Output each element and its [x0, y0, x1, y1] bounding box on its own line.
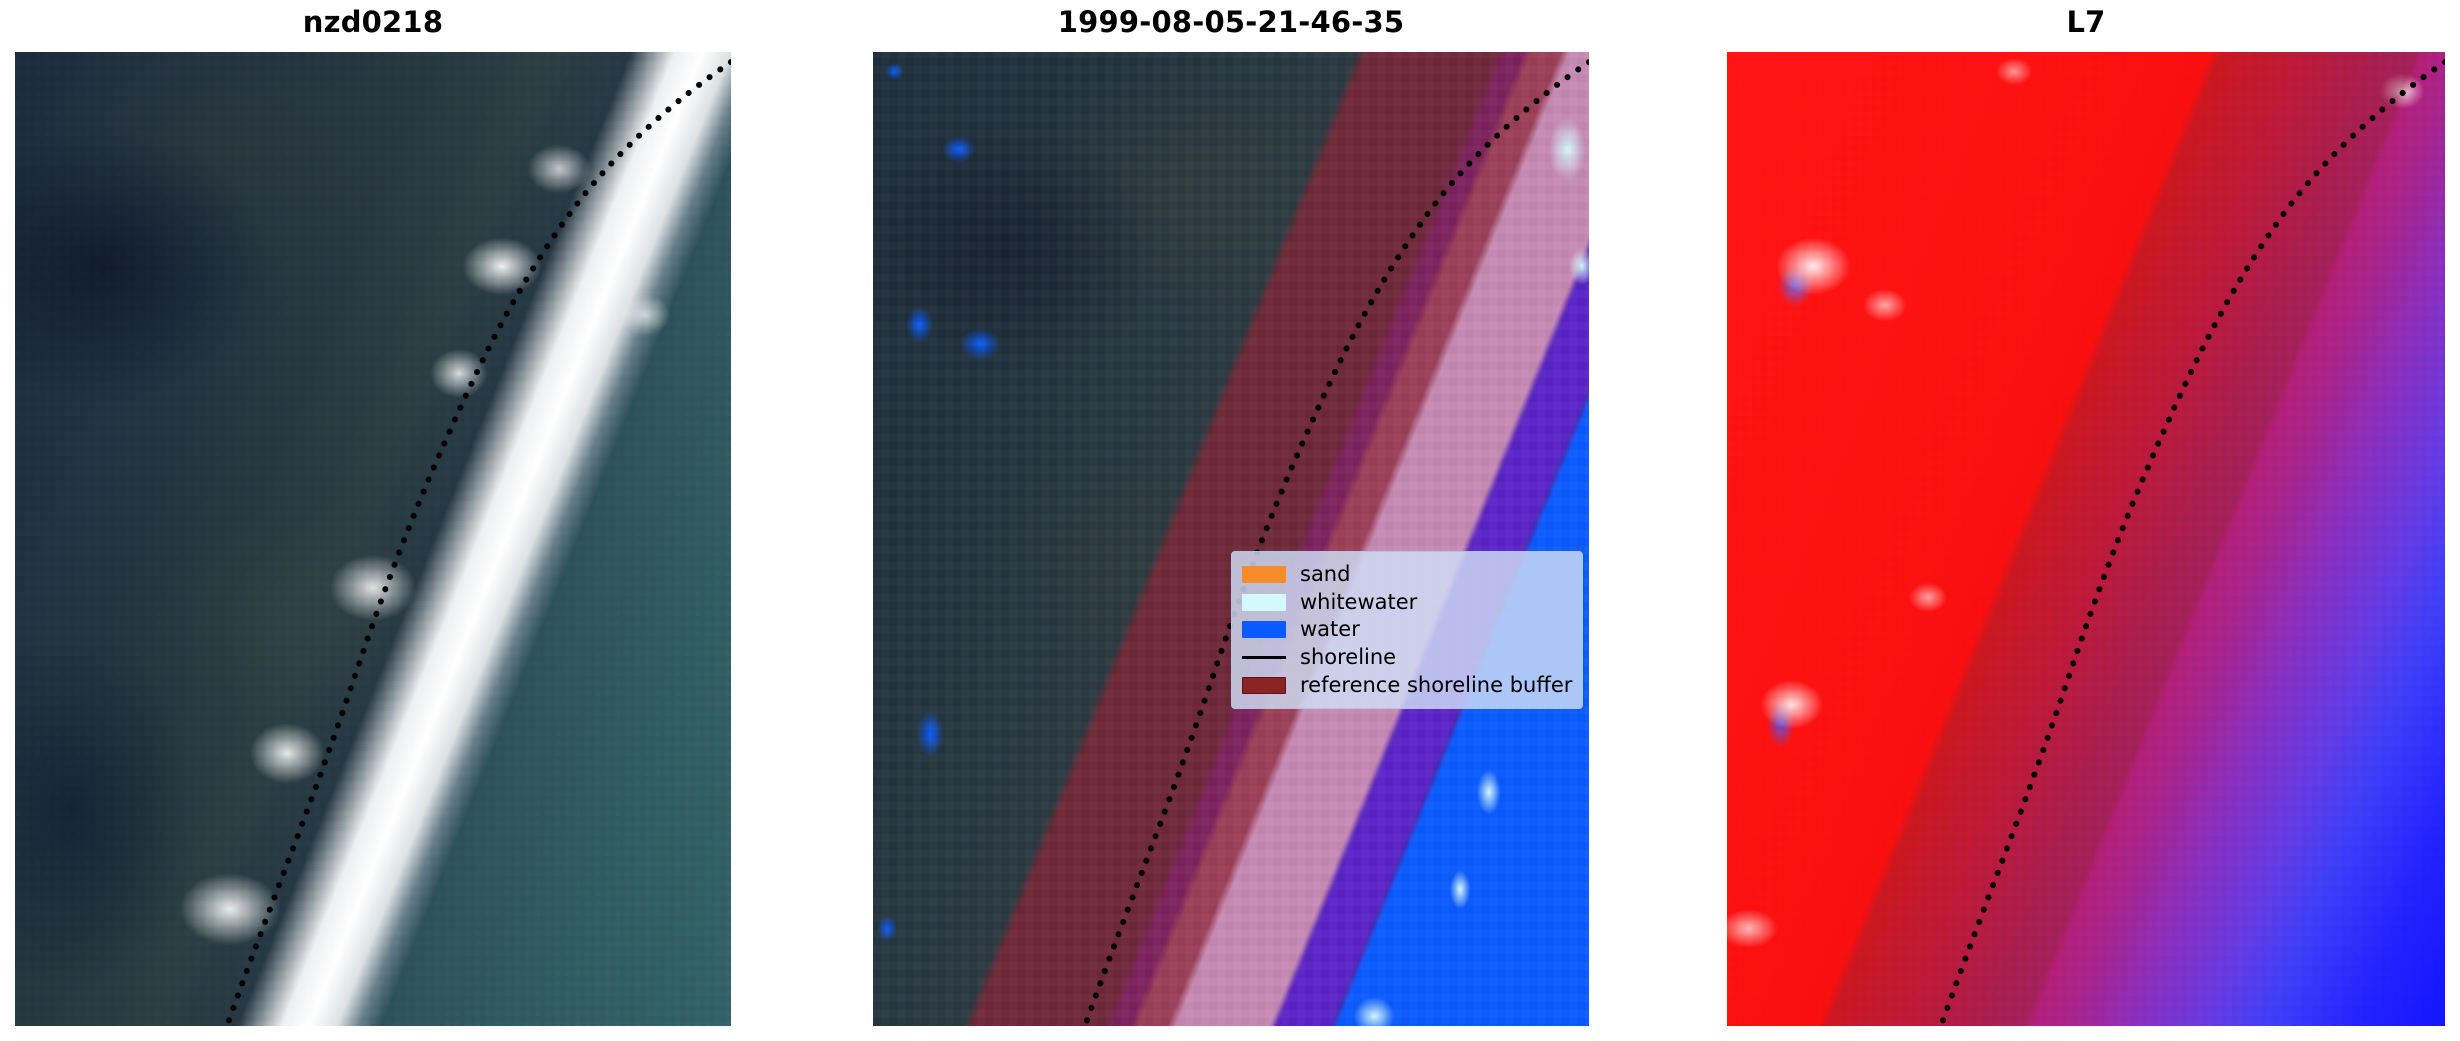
- legend-item-reference-shoreline-buffer: reference shoreline buffer: [1242, 671, 1570, 699]
- classified-shoreline-path: [1085, 62, 1589, 1026]
- legend-label-sand: sand: [1300, 564, 1350, 585]
- panel-index-title: L7: [1727, 0, 2445, 44]
- legend-item-water: water: [1242, 616, 1570, 644]
- figure-canvas: nzd0218 1999-08-05-21-46-35: [0, 0, 2460, 1041]
- index-shoreline-path: [1941, 62, 2445, 1026]
- panel-rgb-image: [15, 52, 731, 1026]
- legend-swatch-shoreline: [1242, 656, 1286, 659]
- legend-item-sand: sand: [1242, 561, 1570, 589]
- panel-classified-title: 1999-08-05-21-46-35: [873, 0, 1589, 44]
- legend-item-shoreline: shoreline: [1242, 644, 1570, 672]
- panel-rgb: nzd0218: [15, 0, 731, 1026]
- legend-label-reference-shoreline-buffer: reference shoreline buffer: [1300, 675, 1572, 696]
- panel-classified-image: [873, 52, 1589, 1026]
- legend-swatch-water: [1242, 621, 1286, 638]
- rgb-shoreline-path: [227, 62, 731, 1026]
- legend-label-water: water: [1300, 619, 1360, 640]
- panel-index: L7: [1727, 0, 2445, 1026]
- panel-rgb-title: nzd0218: [15, 0, 731, 44]
- legend: sand whitewater water shoreline referenc…: [1231, 551, 1583, 709]
- legend-label-shoreline: shoreline: [1300, 647, 1396, 668]
- legend-label-whitewater: whitewater: [1300, 592, 1417, 613]
- classified-shoreline-overlay: [873, 52, 1589, 1026]
- rgb-shoreline-overlay: [15, 52, 731, 1026]
- panel-classified: 1999-08-05-21-46-35 sand: [873, 0, 1589, 1026]
- panel-index-image: [1727, 52, 2445, 1026]
- legend-swatch-reference-shoreline-buffer: [1242, 677, 1286, 694]
- legend-swatch-sand: [1242, 566, 1286, 583]
- legend-swatch-whitewater: [1242, 594, 1286, 611]
- index-shoreline-overlay: [1727, 52, 2445, 1026]
- legend-item-whitewater: whitewater: [1242, 589, 1570, 617]
